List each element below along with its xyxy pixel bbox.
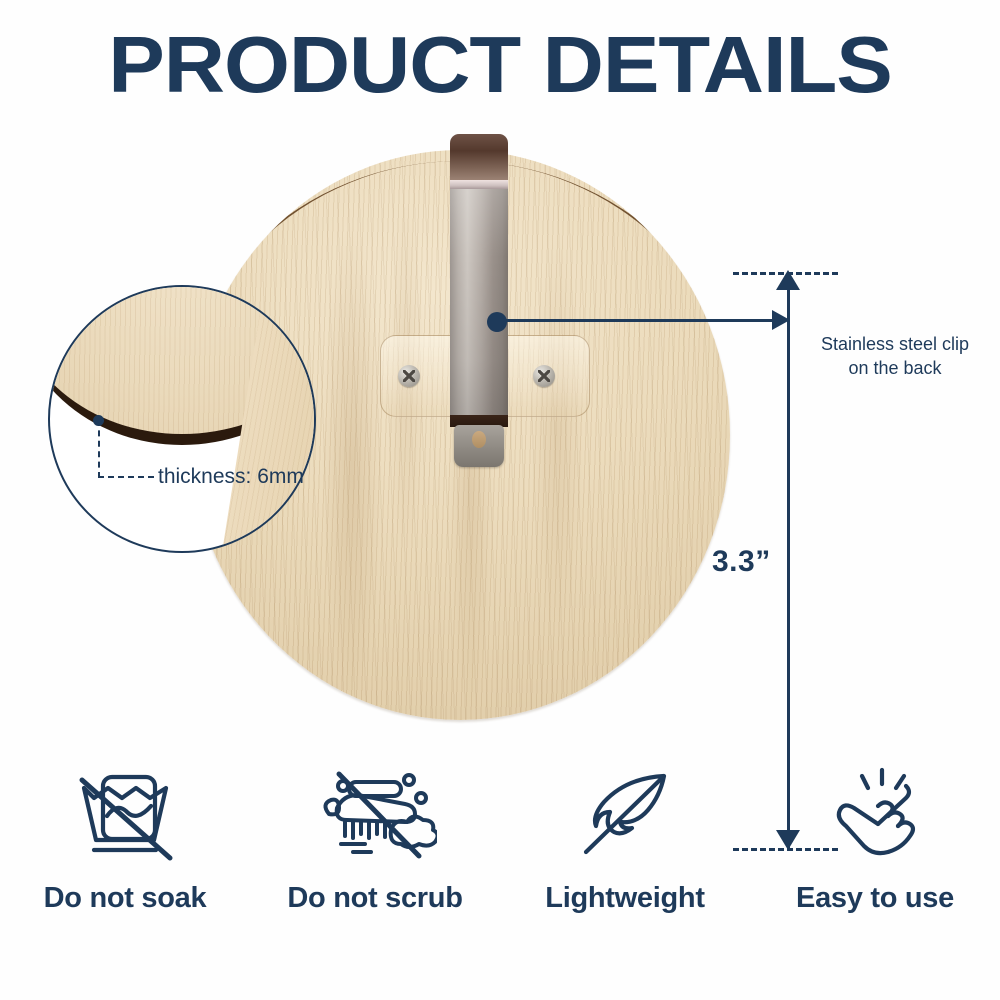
dimension-label: 3.3” — [712, 545, 771, 579]
clip-callout-dot — [487, 312, 507, 332]
hand-tap-icon — [811, 762, 939, 866]
clip-highlight — [450, 180, 508, 189]
clip-top-fold — [450, 134, 508, 182]
do-not-scrub-icon — [311, 762, 439, 866]
feature-label: Do not scrub — [287, 882, 462, 915]
stainless-steel-clip — [440, 134, 518, 464]
feature-row: Do not soak Do not scrub — [0, 762, 1000, 942]
clip-callout-line1: Stainless steel clip — [790, 332, 1000, 356]
feature-lightweight: Lightweight — [500, 762, 750, 942]
feature-easy-to-use: Easy to use — [750, 762, 1000, 942]
do-not-soak-icon — [61, 762, 189, 866]
clip-leader-line — [500, 319, 778, 322]
screw-left-icon — [398, 365, 420, 387]
feather-icon — [561, 762, 689, 866]
page-title: PRODUCT DETAILS — [0, 22, 1000, 108]
dimension-arrow-up-icon — [776, 270, 800, 290]
product-image-stage: Stainless steel clip on the back 3.3” th… — [0, 120, 1000, 750]
thickness-leader-vertical — [98, 420, 100, 478]
screw-right-icon — [533, 365, 555, 387]
thickness-leader-horizontal — [98, 476, 154, 478]
clip-callout-text: Stainless steel clip on the back — [790, 332, 1000, 380]
thickness-magnifier-circle — [48, 285, 316, 553]
thickness-label: thickness: 6mm — [158, 465, 304, 489]
feature-label: Do not soak — [44, 882, 207, 915]
feature-label: Lightweight — [545, 882, 704, 915]
product-details-infographic: PRODUCT DETAILS Stainless steel clip — [0, 0, 1000, 1000]
feature-label: Easy to use — [796, 882, 954, 915]
clip-end-tab — [454, 425, 504, 467]
clip-arrow-icon — [772, 310, 790, 330]
feature-do-not-scrub: Do not scrub — [250, 762, 500, 942]
clip-callout-line2: on the back — [790, 356, 1000, 380]
clip-hole — [472, 431, 486, 448]
feature-do-not-soak: Do not soak — [0, 762, 250, 942]
clip-body — [450, 189, 508, 417]
